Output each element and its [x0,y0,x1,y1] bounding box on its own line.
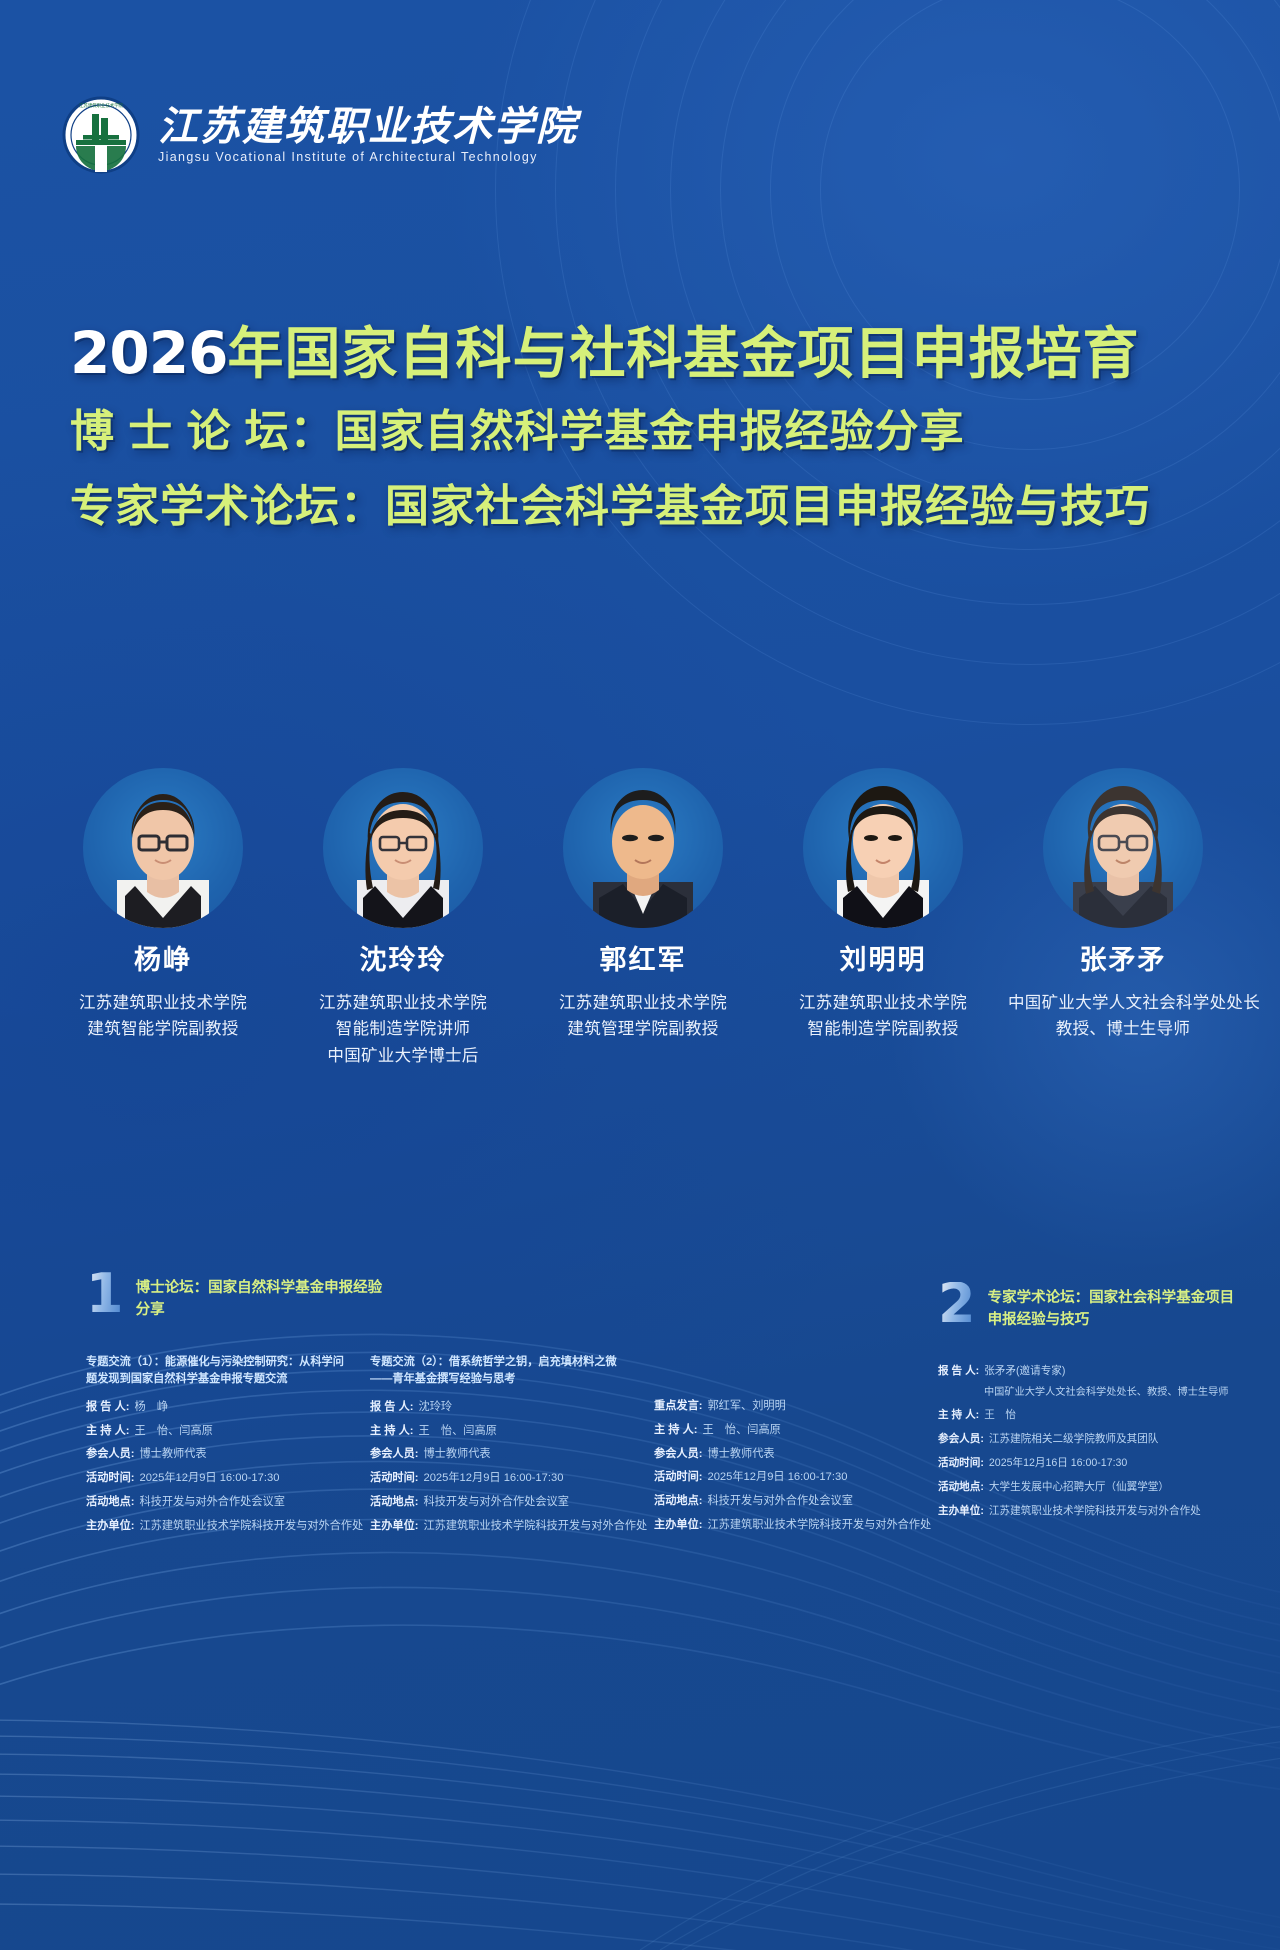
section-2-details: 报 告 人:张矛矛(邀请专家) 中国矿业大学人文社会科学处处长、教授、博士生导师… [938,1364,1238,1528]
speaker-portrait-icon [323,768,483,928]
info-row: 活动地点:科技开发与对外合作处会议室 [86,1494,348,1511]
affiliation-line: 江苏建筑职业技术学院 [288,990,518,1017]
row-label: 活动时间: [86,1470,134,1487]
avatar [1043,768,1203,928]
section-number: 2 [938,1282,976,1326]
info-row: 主 持 人:王 怡、闫高原 [86,1423,348,1440]
speaker-affiliation: 江苏建筑职业技术学院 智能制造学院副教授 [768,990,998,1043]
info-row: 参会人员:博士教师代表 [86,1446,348,1463]
speaker-affiliation: 江苏建筑职业技术学院 建筑管理学院副教授 [528,990,758,1043]
row-value: 张矛矛(邀请专家) [984,1364,1065,1380]
info-row: 活动地点:科技开发与对外合作处会议室 [654,1493,916,1510]
page-title: 2026年国家自科与社科基金项目申报培育 [70,316,1230,390]
program-column: 重点发言:郭红军、刘明明 主 持 人:王 怡、闫高原 参会人员:博士教师代表 活… [654,1354,916,1542]
row-label: 活动地点: [654,1493,702,1510]
university-crest-icon: 江苏建筑职业技术学院 [62,96,140,174]
info-row: 主办单位:江苏建筑职业技术学院科技开发与对外合作处 [938,1504,1238,1520]
affiliation-line: 智能制造学院副教授 [768,1016,998,1043]
speaker-card: 郭红军 江苏建筑职业技术学院 建筑管理学院副教授 [528,768,758,1070]
info-row: 参会人员:博士教师代表 [370,1446,632,1463]
row-label: 活动地点: [370,1494,418,1511]
institution-header: 江苏建筑职业技术学院 江苏建筑职业技术学院 Jiangsu Vocational… [62,96,578,174]
speaker-list: 杨峥 江苏建筑职业技术学院 建筑智能学院副教授 [48,768,1238,1070]
poster-titles: 2026年国家自科与社科基金项目申报培育 博 士 论 坛：国家自然科学基金申报经… [70,316,1230,553]
row-label: 主办单位: [938,1504,984,1520]
column-topic: 专题交流（1）：能源催化与污染控制研究：从科学问题发现到国家自然科学基金申报专题… [86,1354,348,1389]
row-value: 江苏建院相关二级学院教师及其团队 [989,1432,1159,1448]
poster-root: 江苏建筑职业技术学院 江苏建筑职业技术学院 Jiangsu Vocational… [0,0,1280,1950]
row-value: 江苏建筑职业技术学院科技开发与对外合作处 [707,1517,931,1534]
speaker-portrait-icon [83,768,243,928]
info-row: 主 持 人:王 怡、闫高原 [654,1422,916,1439]
row-value: 博士教师代表 [423,1446,490,1463]
section-number: 1 [86,1272,124,1316]
column-topic [654,1354,916,1388]
info-row: 主办单位:江苏建筑职业技术学院科技开发与对外合作处 [86,1518,348,1535]
speaker-affiliation: 中国矿业大学人文社会科学处处长 教授、博士生导师 [1008,990,1238,1043]
avatar [83,768,243,928]
row-value: 杨 峥 [135,1399,169,1416]
institution-name-cn: 江苏建筑职业技术学院 [158,107,578,147]
svg-text:江苏建筑职业技术学院: 江苏建筑职业技术学院 [79,102,124,109]
info-row: 重点发言:郭红军、刘明明 [654,1398,916,1415]
affiliation-line: 江苏建筑职业技术学院 [768,990,998,1017]
row-label: 参会人员: [86,1446,134,1463]
row-label: 报 告 人: [86,1399,130,1416]
speaker-credentials: 中国矿业大学人文社会科学处处长、教授、博士生导师 [984,1385,1238,1400]
info-row: 活动时间:2025年12月9日 16:00-17:30 [86,1470,348,1487]
title-line-expert-forum: 专家学术论坛：国家社会科学基金项目申报经验与技巧 [70,479,1230,535]
row-label: 活动地点: [86,1494,134,1511]
row-label: 参会人员: [938,1432,984,1448]
row-label: 主 持 人: [654,1422,698,1439]
speaker-portrait-icon [803,768,963,928]
affiliation-line: 建筑管理学院副教授 [528,1016,758,1043]
info-row: 主 持 人:王 怡 [938,1408,1238,1424]
row-label: 主 持 人: [370,1423,414,1440]
row-label: 主办单位: [370,1518,418,1535]
row-value: 科技开发与对外合作处会议室 [423,1494,568,1511]
affiliation-line: 中国矿业大学博士后 [288,1043,518,1070]
info-row: 活动地点:大学生发展中心招聘大厅（仙翼学堂） [938,1480,1238,1496]
speaker-card: 刘明明 江苏建筑职业技术学院 智能制造学院副教授 [768,768,998,1070]
row-value: 王 怡、闫高原 [703,1422,781,1439]
speaker-name: 沈玲玲 [288,946,518,976]
row-value: 江苏建筑职业技术学院科技开发与对外合作处 [139,1518,363,1535]
row-value: 郭红军、刘明明 [707,1398,785,1415]
row-value: 王 怡、闫高原 [419,1423,497,1440]
program-column: 专题交流（1）：能源催化与污染控制研究：从科学问题发现到国家自然科学基金申报专题… [86,1354,348,1542]
affiliation-line: 江苏建筑职业技术学院 [528,990,758,1017]
speaker-card: 张矛矛 中国矿业大学人文社会科学处处长 教授、博士生导师 [1008,768,1238,1070]
row-value: 科技开发与对外合作处会议室 [139,1494,284,1511]
info-row: 活动时间:2025年12月16日 16:00-17:30 [938,1456,1238,1472]
affiliation-line: 江苏建筑职业技术学院 [48,990,278,1017]
speaker-name: 刘明明 [768,946,998,976]
info-row: 活动时间:2025年12月9日 16:00-17:30 [654,1469,916,1486]
column-topic: 专题交流（2）：借系统哲学之钥，启充填材料之微——青年基金撰写经验与思考 [370,1354,632,1389]
row-label: 活动地点: [938,1480,984,1496]
speaker-card: 沈玲玲 江苏建筑职业技术学院 智能制造学院讲师 中国矿业大学博士后 [288,768,518,1070]
row-label: 主办单位: [654,1517,702,1534]
speaker-name: 杨峥 [48,946,278,976]
row-value: 博士教师代表 [139,1446,206,1463]
row-label: 活动时间: [654,1469,702,1486]
speaker-portrait-icon [563,768,723,928]
row-label: 主办单位: [86,1518,134,1535]
row-label: 活动时间: [370,1470,418,1487]
info-row: 报 告 人:沈玲玲 [370,1399,632,1416]
info-row: 参会人员:江苏建院相关二级学院教师及其团队 [938,1432,1238,1448]
row-label: 活动时间: [938,1456,984,1472]
row-value: 博士教师代表 [707,1446,774,1463]
info-row: 主 持 人:王 怡、闫高原 [370,1423,632,1440]
program-column: 专题交流（2）：借系统哲学之钥，启充填材料之微——青年基金撰写经验与思考 报 告… [370,1354,632,1542]
row-label: 参会人员: [370,1446,418,1463]
row-label: 参会人员: [654,1446,702,1463]
info-row: 报 告 人:张矛矛(邀请专家) [938,1364,1238,1380]
row-label: 主 持 人: [86,1423,130,1440]
speaker-name: 张矛矛 [1008,946,1238,976]
affiliation-line: 教授、博士生导师 [1008,1016,1238,1043]
affiliation-line: 中国矿业大学人文社会科学处处长 [1008,990,1238,1017]
speaker-card: 杨峥 江苏建筑职业技术学院 建筑智能学院副教授 [48,768,278,1070]
info-row: 活动时间:2025年12月9日 16:00-17:30 [370,1470,632,1487]
row-value: 2025年12月9日 16:00-17:30 [139,1470,279,1487]
info-row: 报 告 人:杨 峥 [86,1399,348,1416]
row-value: 王 怡、闫高原 [135,1423,213,1440]
row-value: 大学生发展中心招聘大厅（仙翼学堂） [989,1480,1169,1496]
avatar [323,768,483,928]
section-1-header: 1 博士论坛：国家自然科学基金申报经验分享 [86,1272,396,1322]
row-value: 沈玲玲 [419,1399,453,1416]
speaker-name: 郭红军 [528,946,758,976]
row-label: 重点发言: [654,1398,702,1415]
section-title: 专家学术论坛：国家社会科学基金项目申报经验与技巧 [988,1282,1248,1332]
info-row: 主办单位:江苏建筑职业技术学院科技开发与对外合作处 [654,1517,916,1534]
row-value: 2025年12月9日 16:00-17:30 [707,1469,847,1486]
row-label: 报 告 人: [938,1364,979,1380]
institution-name-en: Jiangsu Vocational Institute of Architec… [158,150,578,164]
speaker-portrait-icon [1043,768,1203,928]
title-line-doctoral-forum: 博 士 论 坛：国家自然科学基金申报经验分享 [70,404,1230,460]
section-2-header: 2 专家学术论坛：国家社会科学基金项目申报经验与技巧 [938,1282,1248,1332]
row-value: 江苏建筑职业技术学院科技开发与对外合作处 [423,1518,647,1535]
title-main-rest: 年国家自科与社科基金项目申报培育 [227,322,1139,385]
affiliation-line: 智能制造学院讲师 [288,1016,518,1043]
avatar [803,768,963,928]
section-1-columns: 专题交流（1）：能源催化与污染控制研究：从科学问题发现到国家自然科学基金申报专题… [86,1354,916,1542]
affiliation-line: 建筑智能学院副教授 [48,1016,278,1043]
row-value: 2025年12月9日 16:00-17:30 [423,1470,563,1487]
speaker-affiliation: 江苏建筑职业技术学院 建筑智能学院副教授 [48,990,278,1043]
title-year: 2026 [70,319,227,387]
info-row: 主办单位:江苏建筑职业技术学院科技开发与对外合作处 [370,1518,632,1535]
speaker-affiliation: 江苏建筑职业技术学院 智能制造学院讲师 中国矿业大学博士后 [288,990,518,1070]
row-value: 江苏建筑职业技术学院科技开发与对外合作处 [989,1504,1201,1520]
section-title: 博士论坛：国家自然科学基金申报经验分享 [136,1272,396,1322]
info-row: 活动地点:科技开发与对外合作处会议室 [370,1494,632,1511]
row-label: 报 告 人: [370,1399,414,1416]
avatar [563,768,723,928]
row-value: 2025年12月16日 16:00-17:30 [989,1456,1127,1472]
info-row: 参会人员:博士教师代表 [654,1446,916,1463]
row-value: 王 怡 [984,1408,1016,1424]
row-value: 科技开发与对外合作处会议室 [707,1493,852,1510]
row-label: 主 持 人: [938,1408,979,1424]
